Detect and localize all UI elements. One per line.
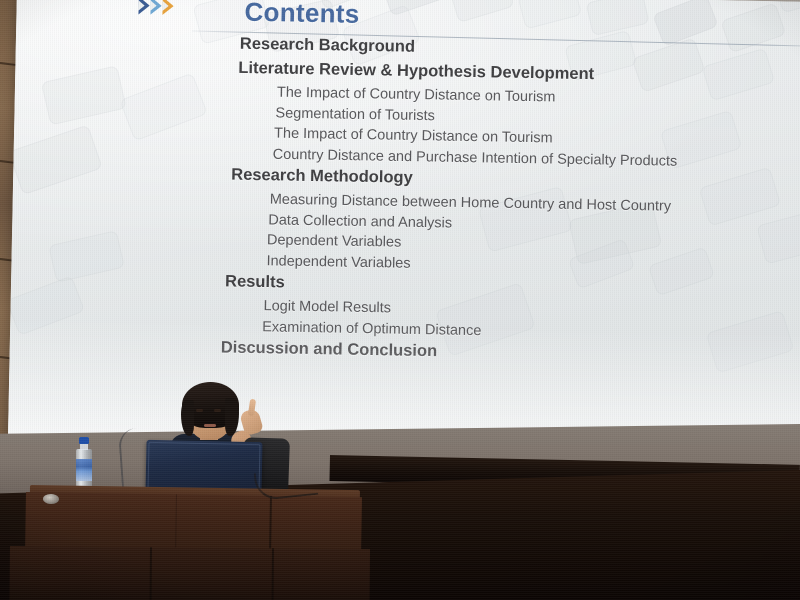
keyboard-key-shape xyxy=(517,0,582,30)
keyboard-key-shape xyxy=(586,0,650,36)
presenter-mouth xyxy=(204,424,216,427)
projection-screen: Contents Research BackgroundLiterature R… xyxy=(8,0,800,454)
bottle-cap xyxy=(79,437,89,444)
toc-subitem: Dependent Variables xyxy=(267,232,402,250)
podium-base xyxy=(10,546,370,600)
presenter-eye-right xyxy=(214,409,221,412)
keyboard-key-shape xyxy=(702,48,776,102)
presenter-hair-left xyxy=(181,400,194,436)
keyboard-key-shape xyxy=(699,167,781,227)
keyboard-key-shape xyxy=(756,207,800,265)
toc-subitem: Data Collection and Analysis xyxy=(269,212,453,231)
laptop[interactable] xyxy=(145,440,262,494)
slide-title: Contents xyxy=(244,0,360,30)
toc-heading: Research Background xyxy=(240,35,415,57)
water-bottle[interactable] xyxy=(76,437,92,491)
keyboard-key-shape xyxy=(119,73,208,142)
bottle-neck xyxy=(80,443,88,450)
toc-subitem: Logit Model Results xyxy=(263,298,391,316)
presenter-eye-left xyxy=(196,409,203,412)
keyboard-key-shape xyxy=(41,65,127,125)
triple-chevron-icon xyxy=(138,0,173,15)
toc-subitem: Segmentation of Tourists xyxy=(276,105,436,124)
lecture-hall-photo: Contents Research BackgroundLiterature R… xyxy=(0,0,800,600)
toc-heading: Research Methodology xyxy=(231,166,413,188)
keyboard-key-shape xyxy=(48,230,125,283)
keyboard-key-shape xyxy=(8,124,102,195)
presenter-hair-right xyxy=(225,398,239,436)
laptop-lid-rim xyxy=(148,442,261,492)
keyboard-key-shape xyxy=(631,37,705,92)
keyboard-key-shape xyxy=(648,247,715,297)
toc-heading: Results xyxy=(224,272,284,292)
bottle-label xyxy=(76,459,92,481)
toc-subitem: Independent Variables xyxy=(266,253,410,272)
keyboard-key-shape xyxy=(449,0,514,23)
